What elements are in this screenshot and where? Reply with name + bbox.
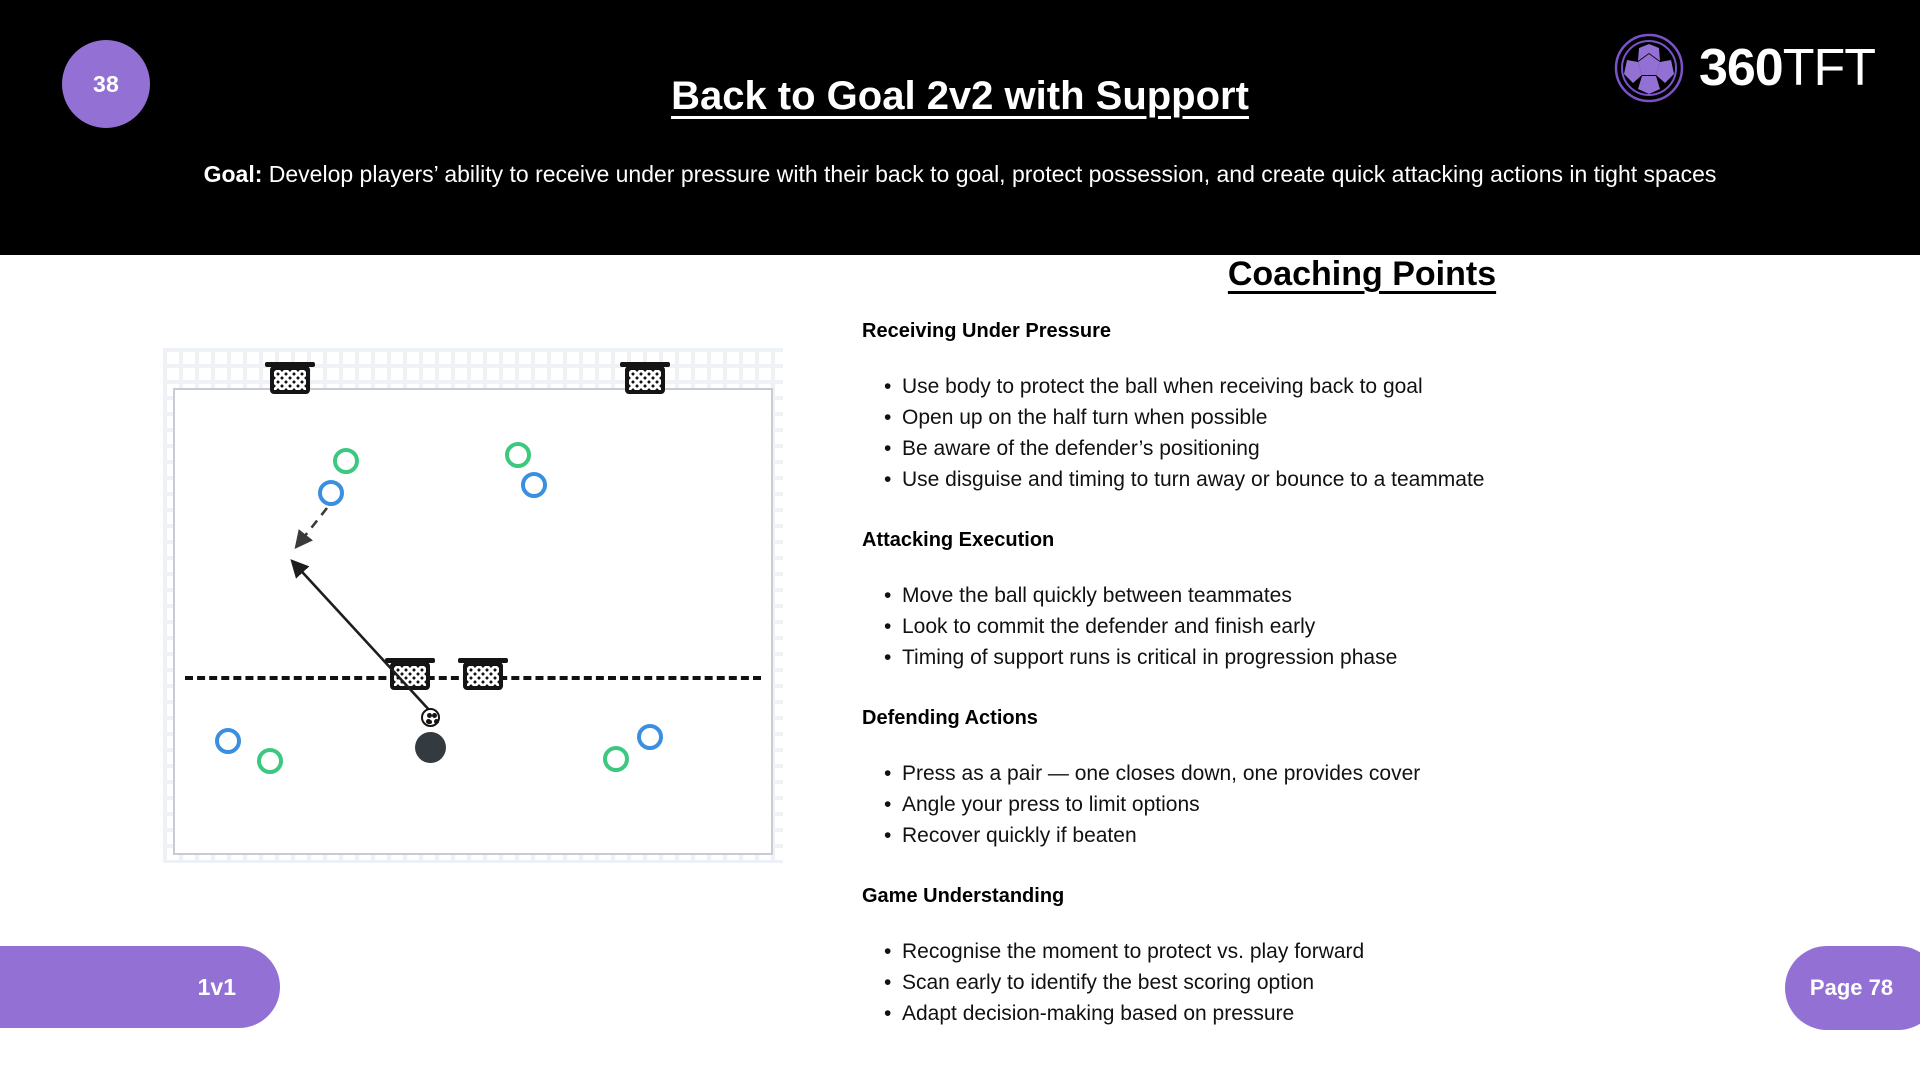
pitch-boundary <box>173 388 773 855</box>
movement-arrows <box>175 390 771 855</box>
brand-text: 360TFT <box>1699 42 1875 94</box>
brand-tft: TFT <box>1783 39 1875 97</box>
section-heading: Game Understanding <box>862 885 1862 908</box>
goal-net-pattern <box>274 370 306 390</box>
drill-type-label: 1v1 <box>198 974 236 1001</box>
list-item: Recover quickly if beaten <box>862 820 1862 851</box>
list-item: Be aware of the defender’s positioning <box>862 433 1862 464</box>
list-item: Use body to protect the ball when receiv… <box>862 371 1862 402</box>
goal-top-right <box>625 366 665 394</box>
coaching-section-defending: Defending Actions Press as a pair — one … <box>862 707 1862 851</box>
goal-label: Goal: <box>204 161 263 187</box>
pitch-diagram <box>163 348 783 863</box>
coaching-section-attacking: Attacking Execution Move the ball quickl… <box>862 529 1862 673</box>
player-blue-top-right <box>521 472 547 498</box>
ball-icon <box>421 708 440 727</box>
drill-type-pill[interactable]: 1v1 <box>0 946 280 1028</box>
goal-mid-left <box>390 662 430 690</box>
page-number-label: Page 78 <box>1810 975 1893 1001</box>
goal-net-pattern <box>629 370 661 390</box>
section-heading: Receiving Under Pressure <box>862 320 1862 343</box>
header-bar: 38 Back to Goal 2v2 with Support Goal: D… <box>0 0 1920 255</box>
list-item: Timing of support runs is critical in pr… <box>862 642 1862 673</box>
section-bullet-list: Use body to protect the ball when receiv… <box>862 371 1862 495</box>
goal-top-left <box>270 366 310 394</box>
list-item: Scan early to identify the best scoring … <box>862 967 1862 998</box>
coaching-points-panel: Coaching Points Receiving Under Pressure… <box>862 255 1862 1063</box>
session-goal-text: Goal: Develop players’ ability to receiv… <box>110 155 1810 193</box>
goal-description: Develop players’ ability to receive unde… <box>262 161 1716 187</box>
section-bullet-list: Recognise the moment to protect vs. play… <box>862 936 1862 1029</box>
player-green-top-right <box>505 442 531 468</box>
soccer-ball-icon <box>1613 32 1685 104</box>
list-item: Open up on the half turn when possible <box>862 402 1862 433</box>
list-item: Recognise the moment to protect vs. play… <box>862 936 1862 967</box>
slide-page: 38 Back to Goal 2v2 with Support Goal: D… <box>0 0 1920 1080</box>
goal-net-pattern <box>467 666 499 686</box>
coaching-section-receiving: Receiving Under Pressure Use body to pro… <box>862 320 1862 495</box>
player-green-bottom-left <box>257 748 283 774</box>
list-item: Use disguise and timing to turn away or … <box>862 464 1862 495</box>
player-ball-carrier <box>415 732 446 763</box>
section-heading: Defending Actions <box>862 707 1862 730</box>
player-blue-bottom-right <box>637 724 663 750</box>
player-green-top-left <box>333 448 359 474</box>
list-item: Look to commit the defender and finish e… <box>862 611 1862 642</box>
section-heading: Attacking Execution <box>862 529 1862 552</box>
list-item: Press as a pair — one closes down, one p… <box>862 758 1862 789</box>
goal-mid-right <box>463 662 503 690</box>
goal-net-pattern <box>394 666 426 686</box>
list-item: Move the ball quickly between teammates <box>862 580 1862 611</box>
section-bullet-list: Press as a pair — one closes down, one p… <box>862 758 1862 851</box>
coaching-points-title: Coaching Points <box>862 255 1862 294</box>
brand-logo: 360TFT <box>1613 32 1875 104</box>
coaching-section-game-understanding: Game Understanding Recognise the moment … <box>862 885 1862 1029</box>
player-blue-bottom-left <box>215 728 241 754</box>
pass-arrow <box>297 508 327 546</box>
player-green-bottom-right <box>603 746 629 772</box>
list-item: Adapt decision-making based on pressure <box>862 998 1862 1029</box>
page-number-pill[interactable]: Page 78 <box>1785 946 1920 1030</box>
list-item: Angle your press to limit options <box>862 789 1862 820</box>
player-blue-top-left <box>318 480 344 506</box>
brand-360: 360 <box>1699 39 1783 97</box>
section-bullet-list: Move the ball quickly between teammates … <box>862 580 1862 673</box>
